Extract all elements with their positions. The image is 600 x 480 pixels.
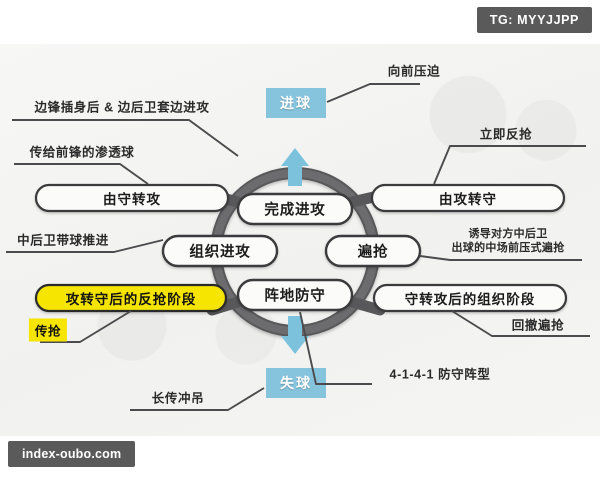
site-watermark-badge: index-oubo.com	[8, 441, 135, 467]
arrow-up-to-goal	[281, 148, 309, 186]
diagram-canvas: 完成进攻 组织进攻 遍抢 阵地防守 由守转攻 由攻转守 攻转守后的反抢阶段 守转…	[0, 44, 600, 436]
diagram-vector-layer	[0, 44, 600, 436]
node-press-win[interactable]	[326, 236, 420, 266]
leader-lines	[6, 84, 590, 410]
node-organize-attack[interactable]	[163, 236, 277, 266]
terminal-goal-scored	[266, 88, 326, 118]
top-bar: TG: MYYJJPP	[0, 0, 600, 44]
pill-counterpress-phase[interactable]	[36, 285, 226, 311]
pill-def-to-att[interactable]	[36, 185, 228, 211]
pill-organize-phase[interactable]	[374, 285, 566, 311]
node-finish-attack[interactable]	[238, 194, 352, 224]
telegram-watermark-badge: TG: MYYJJPP	[477, 7, 592, 33]
bottom-bar: index-oubo.com	[0, 436, 600, 480]
node-positional-defense[interactable]	[238, 280, 352, 310]
pill-att-to-def[interactable]	[372, 185, 564, 211]
terminal-goal-conceded	[266, 368, 326, 398]
